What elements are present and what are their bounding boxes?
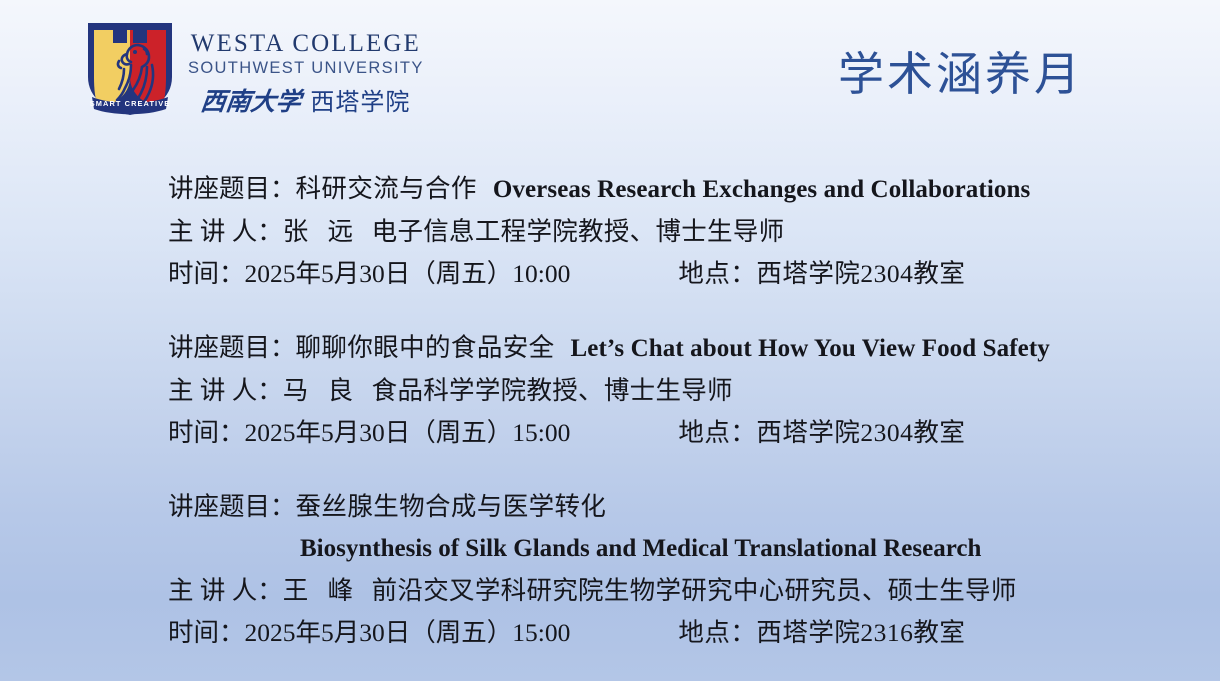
crest-motto-text: SMART CREATIVE: [90, 99, 171, 108]
brand-lockup: SMART CREATIVE WESTA COLLEGE SOUTHWEST U…: [86, 21, 424, 118]
lecture-item: 讲座题目：科研交流与合作Overseas Research Exchanges …: [168, 168, 1168, 295]
speaker-label: 主 讲 人：: [168, 376, 283, 405]
place-value: 西塔学院2304教室: [756, 259, 965, 288]
lecture-speaker-row: 主 讲 人：张 远电子信息工程学院教授、博士生导师: [168, 211, 1168, 253]
time-label: 时间：: [168, 259, 245, 288]
place-label: 地点：: [678, 259, 756, 288]
topic-english: Let’s Chat about How You View Food Safet…: [571, 335, 1050, 362]
page-title: 学术涵养月: [838, 38, 1083, 104]
topic-label: 讲座题目：: [168, 174, 296, 203]
topic-label: 讲座题目：: [168, 492, 296, 521]
place-group: 地点：西塔学院2316教室: [678, 612, 965, 654]
poster-header: SMART CREATIVE WESTA COLLEGE SOUTHWEST U…: [0, 0, 1220, 135]
speaker-label: 主 讲 人：: [168, 217, 283, 246]
brand-chinese-university: 西南大学: [199, 82, 303, 118]
poster-root: SMART CREATIVE WESTA COLLEGE SOUTHWEST U…: [0, 0, 1220, 681]
lecture-topic-row: 讲座题目：蚕丝腺生物合成与医学转化: [168, 486, 1168, 528]
time-value: 2025年5月30日（周五）15:00: [245, 618, 571, 647]
lecture-list: 讲座题目：科研交流与合作Overseas Research Exchanges …: [168, 168, 1168, 654]
speaker-affiliation: 食品科学学院教授、博士生导师: [372, 376, 733, 405]
place-value: 西塔学院2304教室: [756, 418, 965, 447]
brand-chinese-line: 西南大学 西塔学院: [201, 82, 410, 118]
brand-chinese-college: 西塔学院: [310, 82, 410, 117]
topic-chinese: 聊聊你眼中的食品安全: [296, 333, 555, 362]
speaker-label: 主 讲 人：: [168, 576, 283, 605]
lecture-speaker-row: 主 讲 人：马 良食品科学学院教授、博士生导师: [168, 370, 1168, 412]
topic-label: 讲座题目：: [168, 333, 296, 362]
topic-chinese: 科研交流与合作: [296, 174, 477, 203]
lecture-time-place-row: 时间：2025年5月30日（周五）15:00地点：西塔学院2304教室: [168, 412, 1168, 454]
speaker-name: 王 峰: [283, 576, 360, 605]
place-label: 地点：: [678, 618, 756, 647]
brand-english-line1: WESTA COLLEGE: [191, 30, 421, 57]
topic-chinese: 蚕丝腺生物合成与医学转化: [296, 492, 607, 521]
speaker-name: 马 良: [283, 376, 360, 405]
lecture-item: 讲座题目：聊聊你眼中的食品安全Let’s Chat about How You …: [168, 327, 1168, 454]
time-label: 时间：: [168, 418, 245, 447]
place-group: 地点：西塔学院2304教室: [678, 253, 965, 295]
speaker-name: 张 远: [283, 217, 360, 246]
speaker-affiliation: 前沿交叉学科研究院生物学研究中心研究员、硕士生导师: [372, 576, 1017, 605]
lecture-topic-english-row: Biosynthesis of Silk Glands and Medical …: [168, 528, 1168, 570]
time-value: 2025年5月30日（周五）10:00: [245, 259, 571, 288]
place-group: 地点：西塔学院2304教室: [678, 412, 965, 454]
lecture-speaker-row: 主 讲 人：王 峰前沿交叉学科研究院生物学研究中心研究员、硕士生导师: [168, 570, 1168, 612]
lecture-item: 讲座题目：蚕丝腺生物合成与医学转化 Biosynthesis of Silk G…: [168, 486, 1168, 654]
topic-english: Overseas Research Exchanges and Collabor…: [493, 176, 1030, 203]
topic-english: Biosynthesis of Silk Glands and Medical …: [168, 528, 1168, 570]
place-value: 西塔学院2316教室: [756, 618, 965, 647]
lecture-topic-row: 讲座题目：聊聊你眼中的食品安全Let’s Chat about How You …: [168, 327, 1168, 370]
brand-english-line2: SOUTHWEST UNIVERSITY: [188, 58, 424, 79]
lecture-topic-row: 讲座题目：科研交流与合作Overseas Research Exchanges …: [168, 168, 1168, 211]
speaker-affiliation: 电子信息工程学院教授、博士生导师: [372, 217, 785, 246]
westa-college-crest-icon: SMART CREATIVE: [86, 21, 174, 117]
brand-text-block: WESTA COLLEGE SOUTHWEST UNIVERSITY 西南大学 …: [188, 21, 424, 118]
lecture-time-place-row: 时间：2025年5月30日（周五）15:00地点：西塔学院2316教室: [168, 612, 1168, 654]
time-value: 2025年5月30日（周五）15:00: [245, 418, 571, 447]
lecture-time-place-row: 时间：2025年5月30日（周五）10:00地点：西塔学院2304教室: [168, 253, 1168, 295]
place-label: 地点：: [678, 418, 756, 447]
time-label: 时间：: [168, 618, 245, 647]
